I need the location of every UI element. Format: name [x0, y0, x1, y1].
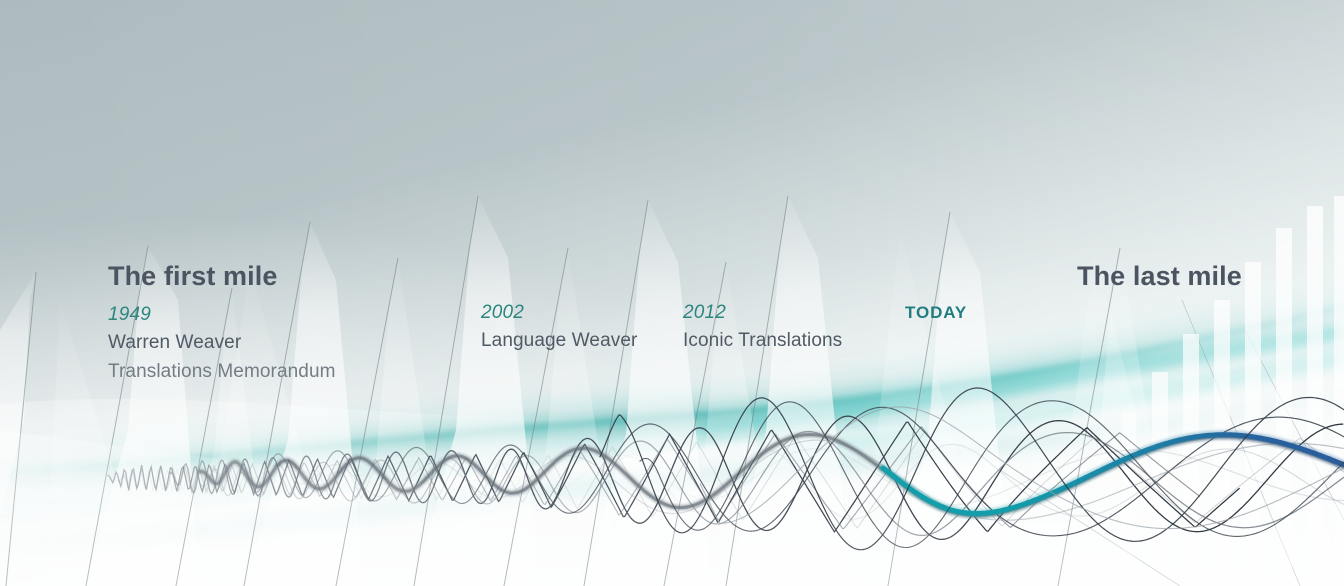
milestone-name-iconic-translations: Iconic Translations — [683, 331, 842, 350]
milestone-label-today: TODAY — [905, 304, 967, 321]
milestone-last-mile: The last mile — [1077, 263, 1242, 290]
milestone-year-2002: 2002 — [481, 303, 637, 322]
milestone-2002: 2002 Language Weaver — [481, 303, 637, 350]
milestone-name-language-weaver: Language Weaver — [481, 331, 637, 350]
milestone-name-warren-weaver: Warren Weaver — [108, 333, 336, 352]
page-title-first-mile: The first mile — [108, 263, 336, 290]
milestone-year-2012: 2012 — [683, 303, 842, 322]
page-title-last-mile: The last mile — [1077, 263, 1242, 290]
text-layer: The first mile 1949 Warren Weaver Transl… — [0, 0, 1344, 586]
milestone-today: TODAY — [905, 304, 967, 321]
milestone-2012: 2012 Iconic Translations — [683, 303, 842, 350]
milestone-year-1949: 1949 — [108, 305, 336, 324]
milestone-subtitle-translations-memorandum: Translations Memorandum — [108, 362, 336, 381]
milestone-first-mile: The first mile 1949 Warren Weaver Transl… — [108, 263, 336, 381]
banner-canvas: The first mile 1949 Warren Weaver Transl… — [0, 0, 1344, 586]
